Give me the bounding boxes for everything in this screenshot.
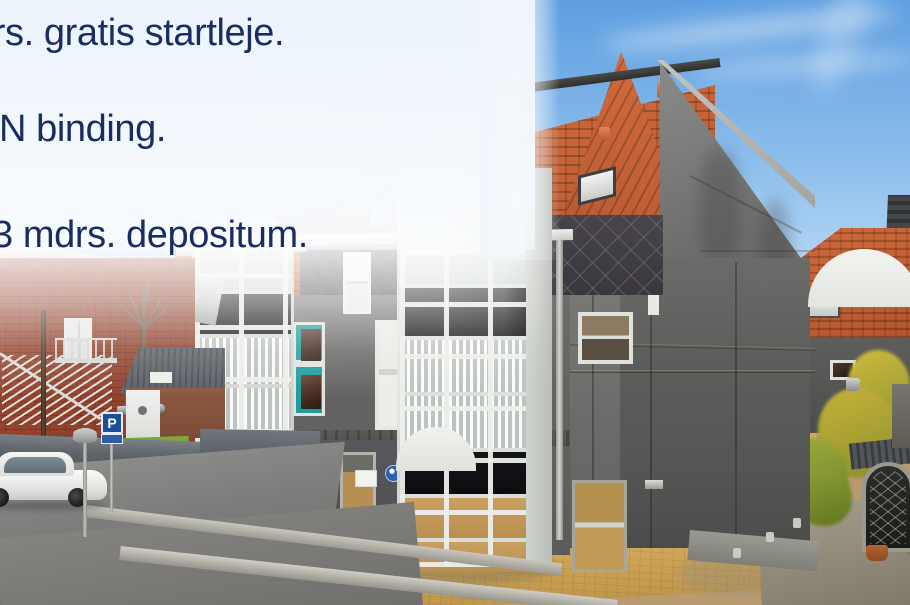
advertisement-image: P drs. gratis startleje. EN binding. 3 m…: [0, 0, 910, 605]
chimney: [599, 127, 610, 140]
wall-plate-icon: [648, 295, 659, 315]
shed-wall: [892, 384, 910, 448]
bollard-light: [766, 532, 774, 542]
headline-line-1: drs. gratis startleje.: [0, 12, 284, 55]
panel-seam: [545, 370, 815, 373]
arched-iron-gate: [862, 462, 910, 552]
bollard-light: [793, 518, 801, 528]
headline-line-2: EN binding.: [0, 108, 166, 151]
flower-pot: [866, 545, 888, 561]
gate-bars: [870, 470, 906, 544]
zinc-diamond-panel: [548, 215, 663, 295]
wall-plate-icon: [645, 480, 663, 489]
wall-lamp-icon: [846, 378, 860, 391]
headline-line-3: 3 mdrs. depositum.: [0, 214, 308, 257]
concrete-stain: [700, 150, 740, 260]
white-overlay-fade: [480, 0, 560, 260]
upper-window-right: [578, 312, 633, 364]
ground-floor-glass-door-right: [572, 480, 627, 572]
panel-seam: [735, 262, 737, 547]
bollard-light: [733, 548, 741, 558]
